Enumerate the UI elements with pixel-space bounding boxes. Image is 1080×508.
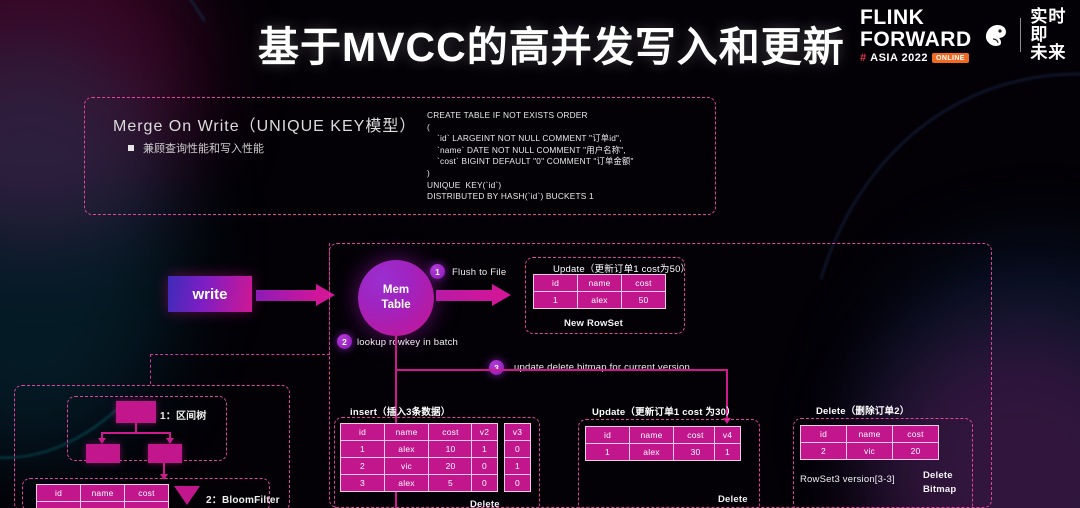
header-cell: id [586,427,630,444]
cell: vic [847,443,893,460]
bullet-square-icon [128,145,134,151]
cell: 1 [505,458,531,475]
tree-right-child-node [148,444,182,463]
insert-caption: insert（插入3条数据） [350,404,450,418]
update-table: id name cost 1 alex 30 [585,426,718,461]
cell: alex [630,444,674,461]
tree-left-child-node [86,444,120,463]
table-header-row: v2 [472,424,498,441]
slogan-line2: 未来 [1030,44,1072,62]
header-cell: cost [622,275,666,292]
header-cell: v4 [715,427,741,444]
insert-table: id name cost 1 alex 10 2 vic 20 3 alex 5 [340,423,473,492]
step-1-badge: 1 [430,264,445,279]
cell: alex [385,475,429,492]
table-row: 1 [505,458,531,475]
table-row: 1 alex 50 [534,292,666,309]
slide-root: 基于MVCC的高并发写入和更新 FLINK FORWARD # ASIA 202… [0,0,1080,508]
tree-root-node [116,401,156,423]
logo-flink-text: FLINK [860,7,924,28]
cell: 3 [341,475,385,492]
cell: 0 [472,475,498,492]
header-cell: name [847,426,893,443]
memtable-line1: Mem [383,283,409,298]
new-rowset-table: id name cost 1 alex 50 [533,274,666,309]
page-title: 基于MVCC的高并发写入和更新 [258,8,858,78]
cell: 1 [715,444,741,461]
update-v4-column: v4 1 [714,426,741,461]
cell: 20 [429,458,473,475]
write-node: write [168,276,252,312]
table-header-row: id name cost [801,426,939,443]
update-delete-footer: Delete [718,494,748,505]
header-cell: id [37,485,81,502]
table-row: 1 [715,444,741,461]
hash-icon: # [860,53,866,64]
tree-horizontal [101,432,170,434]
header-cell: cost [674,427,718,444]
cell: 1 [586,444,630,461]
cell: alex [385,441,429,458]
cell: 1 [472,441,498,458]
bloom-filter-table: id name cost [36,484,169,508]
insert-delete-footer: Delete [470,499,500,508]
step3-horizontal-line [395,369,727,371]
table-row: 0 [472,458,498,475]
cell: 50 [622,292,666,309]
cell: 0 [472,458,498,475]
cell [125,502,169,508]
merge-on-write-bullet: 兼顾查询性能和写入性能 [128,140,264,156]
lookup-dashed-left-down [150,354,151,384]
cell: vic [385,458,429,475]
logo-divider [1020,18,1021,52]
table-header-row: id name cost [37,485,169,502]
memtable-down-line [395,336,397,370]
table-row: 1 alex 30 [586,444,718,461]
merge-on-write-heading: Merge On Write（UNIQUE KEY模型） [113,112,416,136]
cell: 5 [429,475,473,492]
delete-bitmap-label-line2: Bitmap [923,484,956,495]
logo-event-row: # ASIA 2022 ONLINE [860,53,969,64]
table-row: 2 vic 20 [341,458,473,475]
table-row: 1 [472,441,498,458]
table-header-row: id name cost [534,275,666,292]
logo-forward-text: FORWARD [860,29,972,50]
table-row [37,502,169,508]
table-header-row: id name cost [586,427,718,444]
memtable-line2: Table [381,298,410,313]
update-caption: Update（更新订单1 cost 为30） [592,404,736,418]
header-cell: cost [893,426,939,443]
step-1-label: Flush to File [452,267,506,278]
table-row: 0 [505,475,531,492]
logo-online-badge: ONLINE [932,53,969,63]
step-3-badge: 3 [489,360,504,375]
header-cell: v2 [472,424,498,441]
cell [37,502,81,508]
table-row: 3 alex 5 [341,475,473,492]
squirrel-icon [980,20,1010,50]
cell: alex [578,292,622,309]
cell [81,502,125,508]
step-2-label: lookup rowkey in batch [357,337,458,348]
cell: 30 [674,444,718,461]
table-row: 2 vic 20 [801,443,939,460]
header-cell: v3 [505,424,531,441]
table-row: 0 [505,441,531,458]
new-rowset-footer: New RowSet [564,318,623,329]
insert-v3-column: v3 0 1 0 [504,423,531,492]
delete-table: id name cost 2 vic 20 [800,425,939,460]
write-to-memtable-arrow-icon [256,284,336,306]
logo-text-block: FLINK FORWARD # ASIA 2022 ONLINE [860,7,972,64]
flink-forward-logo: FLINK FORWARD # ASIA 2022 ONLINE 实时即 未来 [860,4,1072,66]
logo-event-text: ASIA 2022 [870,53,928,64]
cell: 10 [429,441,473,458]
lookup-dashed-horizontal [150,354,330,355]
delete-caption: Delete（删除订单2） [816,403,909,417]
delete-rowset-footer: RowSet3 version[3-3] [800,474,895,485]
bloom-filter-triangle-icon [174,486,200,505]
header-cell: name [81,485,125,502]
step-3-label: update delete bitmap for current version [514,362,690,373]
header-cell: cost [429,424,473,441]
step-2-badge: 2 [337,334,352,349]
lookup-dashed-vertical [329,243,330,355]
table-header-row: v4 [715,427,741,444]
logo-chinese-slogan: 实时即 未来 [1030,8,1072,62]
cell: 1 [534,292,578,309]
header-cell: id [534,275,578,292]
header-cell: id [341,424,385,441]
insert-v2-column: v2 1 0 0 [471,423,498,492]
cell: 0 [505,441,531,458]
slogan-line1: 实时即 [1030,8,1072,44]
cell: 1 [341,441,385,458]
header-cell: name [578,275,622,292]
table-row: 0 [472,475,498,492]
bullet-text: 兼顾查询性能和写入性能 [143,140,264,156]
bloom-filter-label: 2：BloomFilter [206,491,280,506]
cell: 2 [801,443,847,460]
sql-code-block: CREATE TABLE IF NOT EXISTS ORDER ( `id` … [427,110,634,203]
memtable-node: Mem Table [358,260,434,336]
header-cell: name [630,427,674,444]
header-cell: id [801,426,847,443]
cell: 0 [505,475,531,492]
table-header-row: id name cost [341,424,473,441]
header-cell: cost [125,485,169,502]
interval-tree-label: 1：区间树 [160,407,207,422]
flush-arrow-icon [436,284,514,306]
new-rowset-caption: Update（更新订单1 cost为50） [553,261,690,275]
header-cell: name [385,424,429,441]
delete-bitmap-label-line1: Delete [923,470,953,481]
table-header-row: v3 [505,424,531,441]
table-row: 1 alex 10 [341,441,473,458]
cell: 2 [341,458,385,475]
cell: 20 [893,443,939,460]
